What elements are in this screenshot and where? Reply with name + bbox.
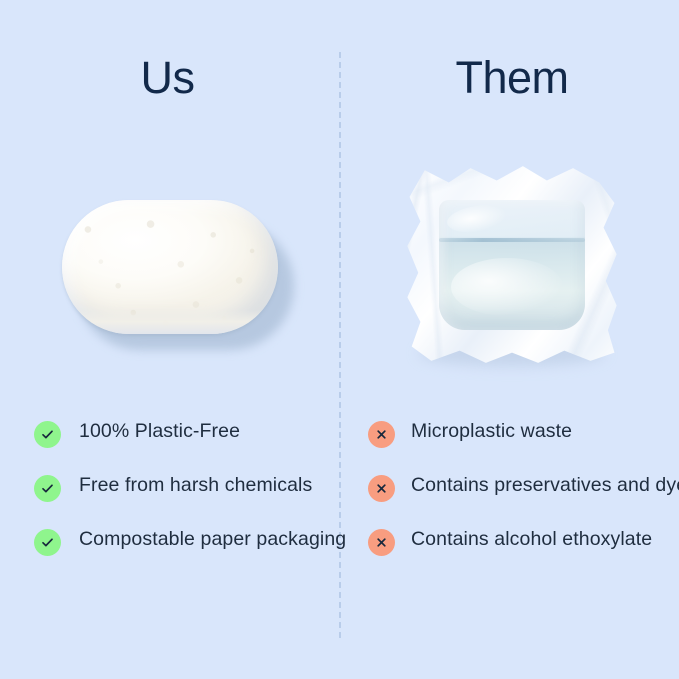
cross-icon xyxy=(368,529,395,556)
list-item: Contains alcohol ethoxylate xyxy=(368,526,679,556)
list-item-label: Contains alcohol ethoxylate xyxy=(411,526,652,552)
list-item-label: Microplastic waste xyxy=(411,418,572,444)
list-item-label: Free from harsh chemicals xyxy=(79,472,312,498)
tablet-illustration xyxy=(62,200,282,340)
comparison-infographic: Us 100% Plastic-Free xyxy=(0,0,679,679)
check-icon xyxy=(34,529,61,556)
cross-icon xyxy=(368,421,395,448)
list-item: Contains preservatives and dyes xyxy=(368,472,679,502)
list-item: 100% Plastic-Free xyxy=(34,418,373,448)
pod-gloss-highlight xyxy=(451,258,563,316)
cross-icon xyxy=(368,475,395,502)
pod-fill-line xyxy=(439,238,585,242)
list-item-label: 100% Plastic-Free xyxy=(79,418,240,444)
pod-illustration xyxy=(403,162,623,377)
product-image-pod xyxy=(341,140,679,400)
tablet-body xyxy=(62,200,278,334)
list-item: Microplastic waste xyxy=(368,418,679,448)
tablet-rim xyxy=(66,310,274,334)
page-title-them: Them xyxy=(341,50,679,106)
column-us: Us 100% Plastic-Free xyxy=(0,0,339,679)
check-icon xyxy=(34,475,61,502)
check-icon xyxy=(34,421,61,448)
product-image-tablet xyxy=(0,140,339,400)
list-item: Free from harsh chemicals xyxy=(34,472,373,502)
column-them: Them Microplastic waste xyxy=(341,0,679,679)
list-item-label: Compostable paper packaging xyxy=(79,526,346,552)
list-item-label: Contains preservatives and dyes xyxy=(411,472,679,498)
drawbacks-list-them: Microplastic waste Contains preservative… xyxy=(341,418,679,556)
page-title-us: Us xyxy=(0,50,339,106)
list-item: Compostable paper packaging xyxy=(34,526,373,556)
